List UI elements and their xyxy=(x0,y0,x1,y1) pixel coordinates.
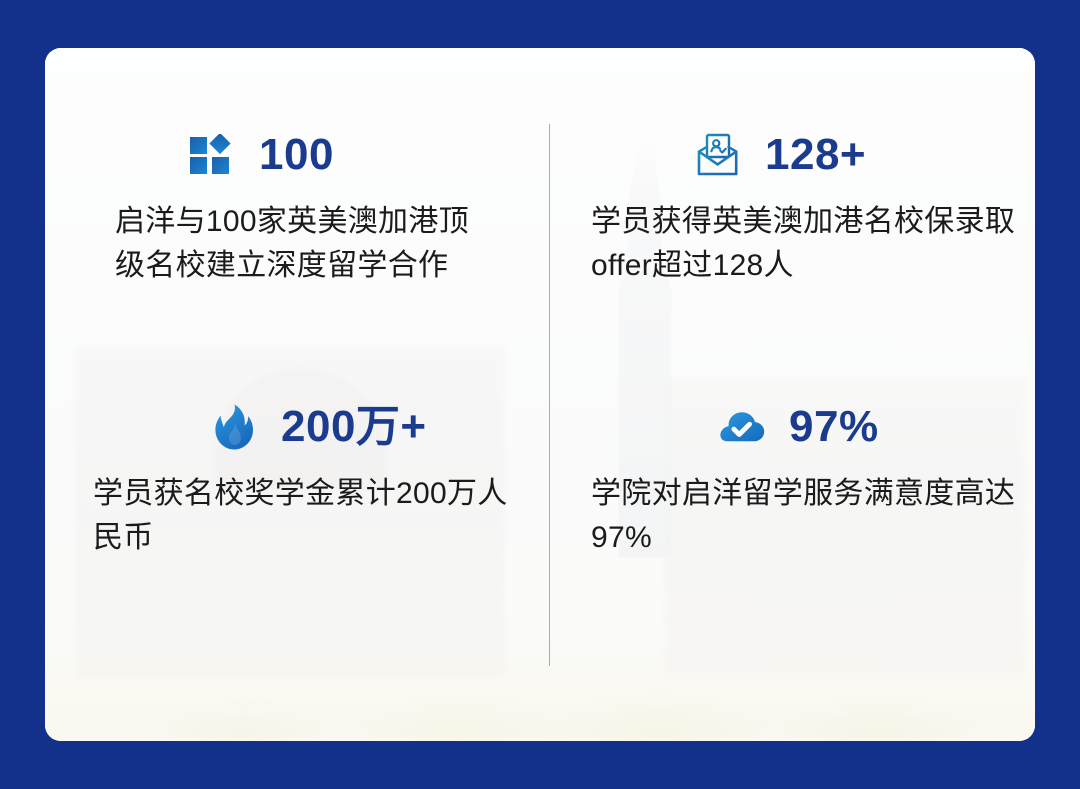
stat-number: 200万+ xyxy=(281,405,427,449)
poster-root: 100 启洋与100家英美澳加港顶级名校建立深度留学合作 xyxy=(0,0,1080,789)
stat-description: 学院对启洋留学服务满意度高达97% xyxy=(565,472,1035,561)
stat-number: 100 xyxy=(259,133,334,177)
stat-description: 学员获名校奖学金累计200万人民币 xyxy=(67,472,537,561)
stat-item-128plus: 128+ 学员获得英美澳加港名校保录取offer超过128人 xyxy=(565,126,1035,289)
stat-item-200wan: 200万+ 学员获名校奖学金累计200万人民币 xyxy=(67,398,537,561)
stat-header: 200万+ xyxy=(67,398,537,456)
stat-header: 97% xyxy=(565,398,1035,456)
grid-squares-icon xyxy=(187,130,237,180)
cloud-check-icon xyxy=(717,402,767,452)
stat-description: 启洋与100家英美澳加港顶级名校建立深度留学合作 xyxy=(67,200,537,289)
stat-number: 128+ xyxy=(765,133,866,177)
stat-item-97pct: 97% 学院对启洋留学服务满意度高达97% xyxy=(565,398,1035,561)
stat-header: 128+ xyxy=(565,126,1035,184)
stat-description: 学员获得英美澳加港名校保录取offer超过128人 xyxy=(565,200,1035,289)
column-divider xyxy=(549,124,550,666)
envelope-person-offer-icon xyxy=(693,130,743,180)
flame-icon xyxy=(209,402,259,452)
stats-content: 100 启洋与100家英美澳加港顶级名校建立深度留学合作 xyxy=(45,48,1035,741)
stat-header: 100 xyxy=(67,126,537,184)
stat-item-100: 100 启洋与100家英美澳加港顶级名校建立深度留学合作 xyxy=(67,126,537,289)
stat-number: 97% xyxy=(789,405,879,449)
stats-card: 100 启洋与100家英美澳加港顶级名校建立深度留学合作 xyxy=(45,48,1035,741)
